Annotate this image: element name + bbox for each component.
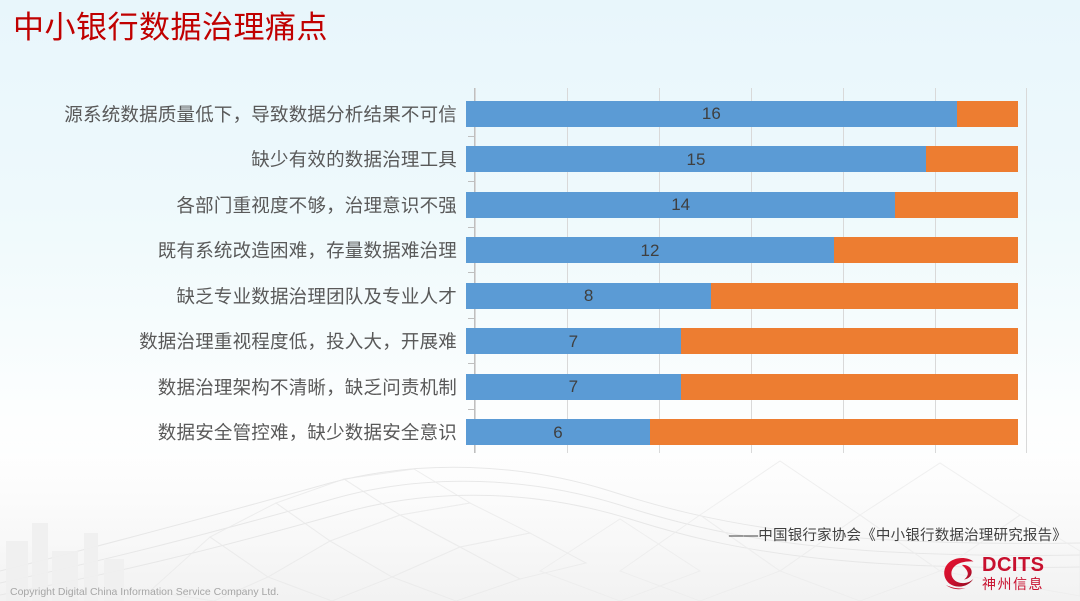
page-title: 中小银行数据治理痛点: [13, 8, 328, 48]
bar-row: 各部门重视度不够，治理意识不强 14: [0, 182, 1040, 228]
bar-segment-secondary[interactable]: [650, 419, 1018, 445]
bar-row: 缺少有效的数据治理工具 15: [0, 137, 1040, 183]
bar-segment-primary[interactable]: 7: [466, 374, 681, 400]
bar-track: 8: [466, 283, 1018, 309]
bar-value-label: 7: [569, 333, 578, 350]
company-logo: DCITS 神州信息: [940, 551, 1070, 595]
bar-segment-secondary[interactable]: [681, 374, 1018, 400]
bar-value-label: 12: [641, 242, 660, 259]
bar-value-label: 16: [702, 105, 721, 122]
category-label: 既有系统改造困难，存量数据难治理: [0, 237, 466, 263]
bar-track: 15: [466, 146, 1018, 172]
bar-value-label: 8: [584, 287, 593, 304]
bar-segment-secondary[interactable]: [895, 192, 1018, 218]
bar-segment-primary[interactable]: 16: [466, 101, 957, 127]
bar-segment-secondary[interactable]: [957, 101, 1018, 127]
category-label: 缺乏专业数据治理团队及专业人才: [0, 283, 466, 309]
bar-segment-primary[interactable]: 12: [466, 237, 834, 263]
category-label: 缺少有效的数据治理工具: [0, 146, 466, 172]
bar-row: 数据治理重视程度低，投入大，开展难 7: [0, 319, 1040, 365]
bar-chart: 源系统数据质量低下，导致数据分析结果不可信 16 缺少有效的数据治理工具 15: [0, 88, 1040, 458]
logo-wordmark: DCITS 神州信息: [982, 555, 1045, 591]
bar-segment-primary[interactable]: 6: [466, 419, 650, 445]
category-label: 源系统数据质量低下，导致数据分析结果不可信: [0, 101, 466, 127]
bar-track: 12: [466, 237, 1018, 263]
bar-track: 14: [466, 192, 1018, 218]
bar-track: 7: [466, 374, 1018, 400]
category-label: 数据治理重视程度低，投入大，开展难: [0, 328, 466, 354]
bar-segment-primary[interactable]: 15: [466, 146, 926, 172]
bar-track: 6: [466, 419, 1018, 445]
category-label: 各部门重视度不够，治理意识不强: [0, 192, 466, 218]
dcits-swoosh-icon: [940, 554, 980, 592]
logo-english-name: DCITS: [982, 555, 1045, 575]
bar-segment-secondary[interactable]: [681, 328, 1018, 354]
bar-track: 7: [466, 328, 1018, 354]
bar-segment-primary[interactable]: 14: [466, 192, 895, 218]
category-label: 数据安全管控难，缺少数据安全意识: [0, 419, 466, 445]
bar-segment-secondary[interactable]: [834, 237, 1018, 263]
bar-segment-primary[interactable]: 7: [466, 328, 681, 354]
bar-row: 数据治理架构不清晰，缺乏问责机制 7: [0, 364, 1040, 410]
bar-value-label: 14: [671, 196, 690, 213]
bar-segment-secondary[interactable]: [711, 283, 1018, 309]
bar-segment-primary[interactable]: 8: [466, 283, 711, 309]
bar-row: 既有系统改造困难，存量数据难治理 12: [0, 228, 1040, 274]
source-citation: ——中国银行家协会《中小银行数据治理研究报告》: [729, 524, 1067, 545]
logo-chinese-name: 神州信息: [982, 577, 1045, 591]
bar-segment-secondary[interactable]: [926, 146, 1018, 172]
bar-rows: 源系统数据质量低下，导致数据分析结果不可信 16 缺少有效的数据治理工具 15: [0, 91, 1040, 455]
bar-value-label: 15: [687, 151, 706, 168]
slide-canvas: 中小银行数据治理痛点 源: [0, 0, 1080, 601]
bar-value-label: 7: [569, 378, 578, 395]
category-label: 数据治理架构不清晰，缺乏问责机制: [0, 374, 466, 400]
bar-row: 数据安全管控难，缺少数据安全意识 6: [0, 410, 1040, 456]
bar-value-label: 6: [553, 424, 562, 441]
plot-area: 源系统数据质量低下，导致数据分析结果不可信 16 缺少有效的数据治理工具 15: [0, 88, 1040, 458]
copyright-text: Copyright Digital China Information Serv…: [10, 586, 279, 598]
bar-row: 缺乏专业数据治理团队及专业人才 8: [0, 273, 1040, 319]
bar-row: 源系统数据质量低下，导致数据分析结果不可信 16: [0, 91, 1040, 137]
bar-track: 16: [466, 101, 1018, 127]
